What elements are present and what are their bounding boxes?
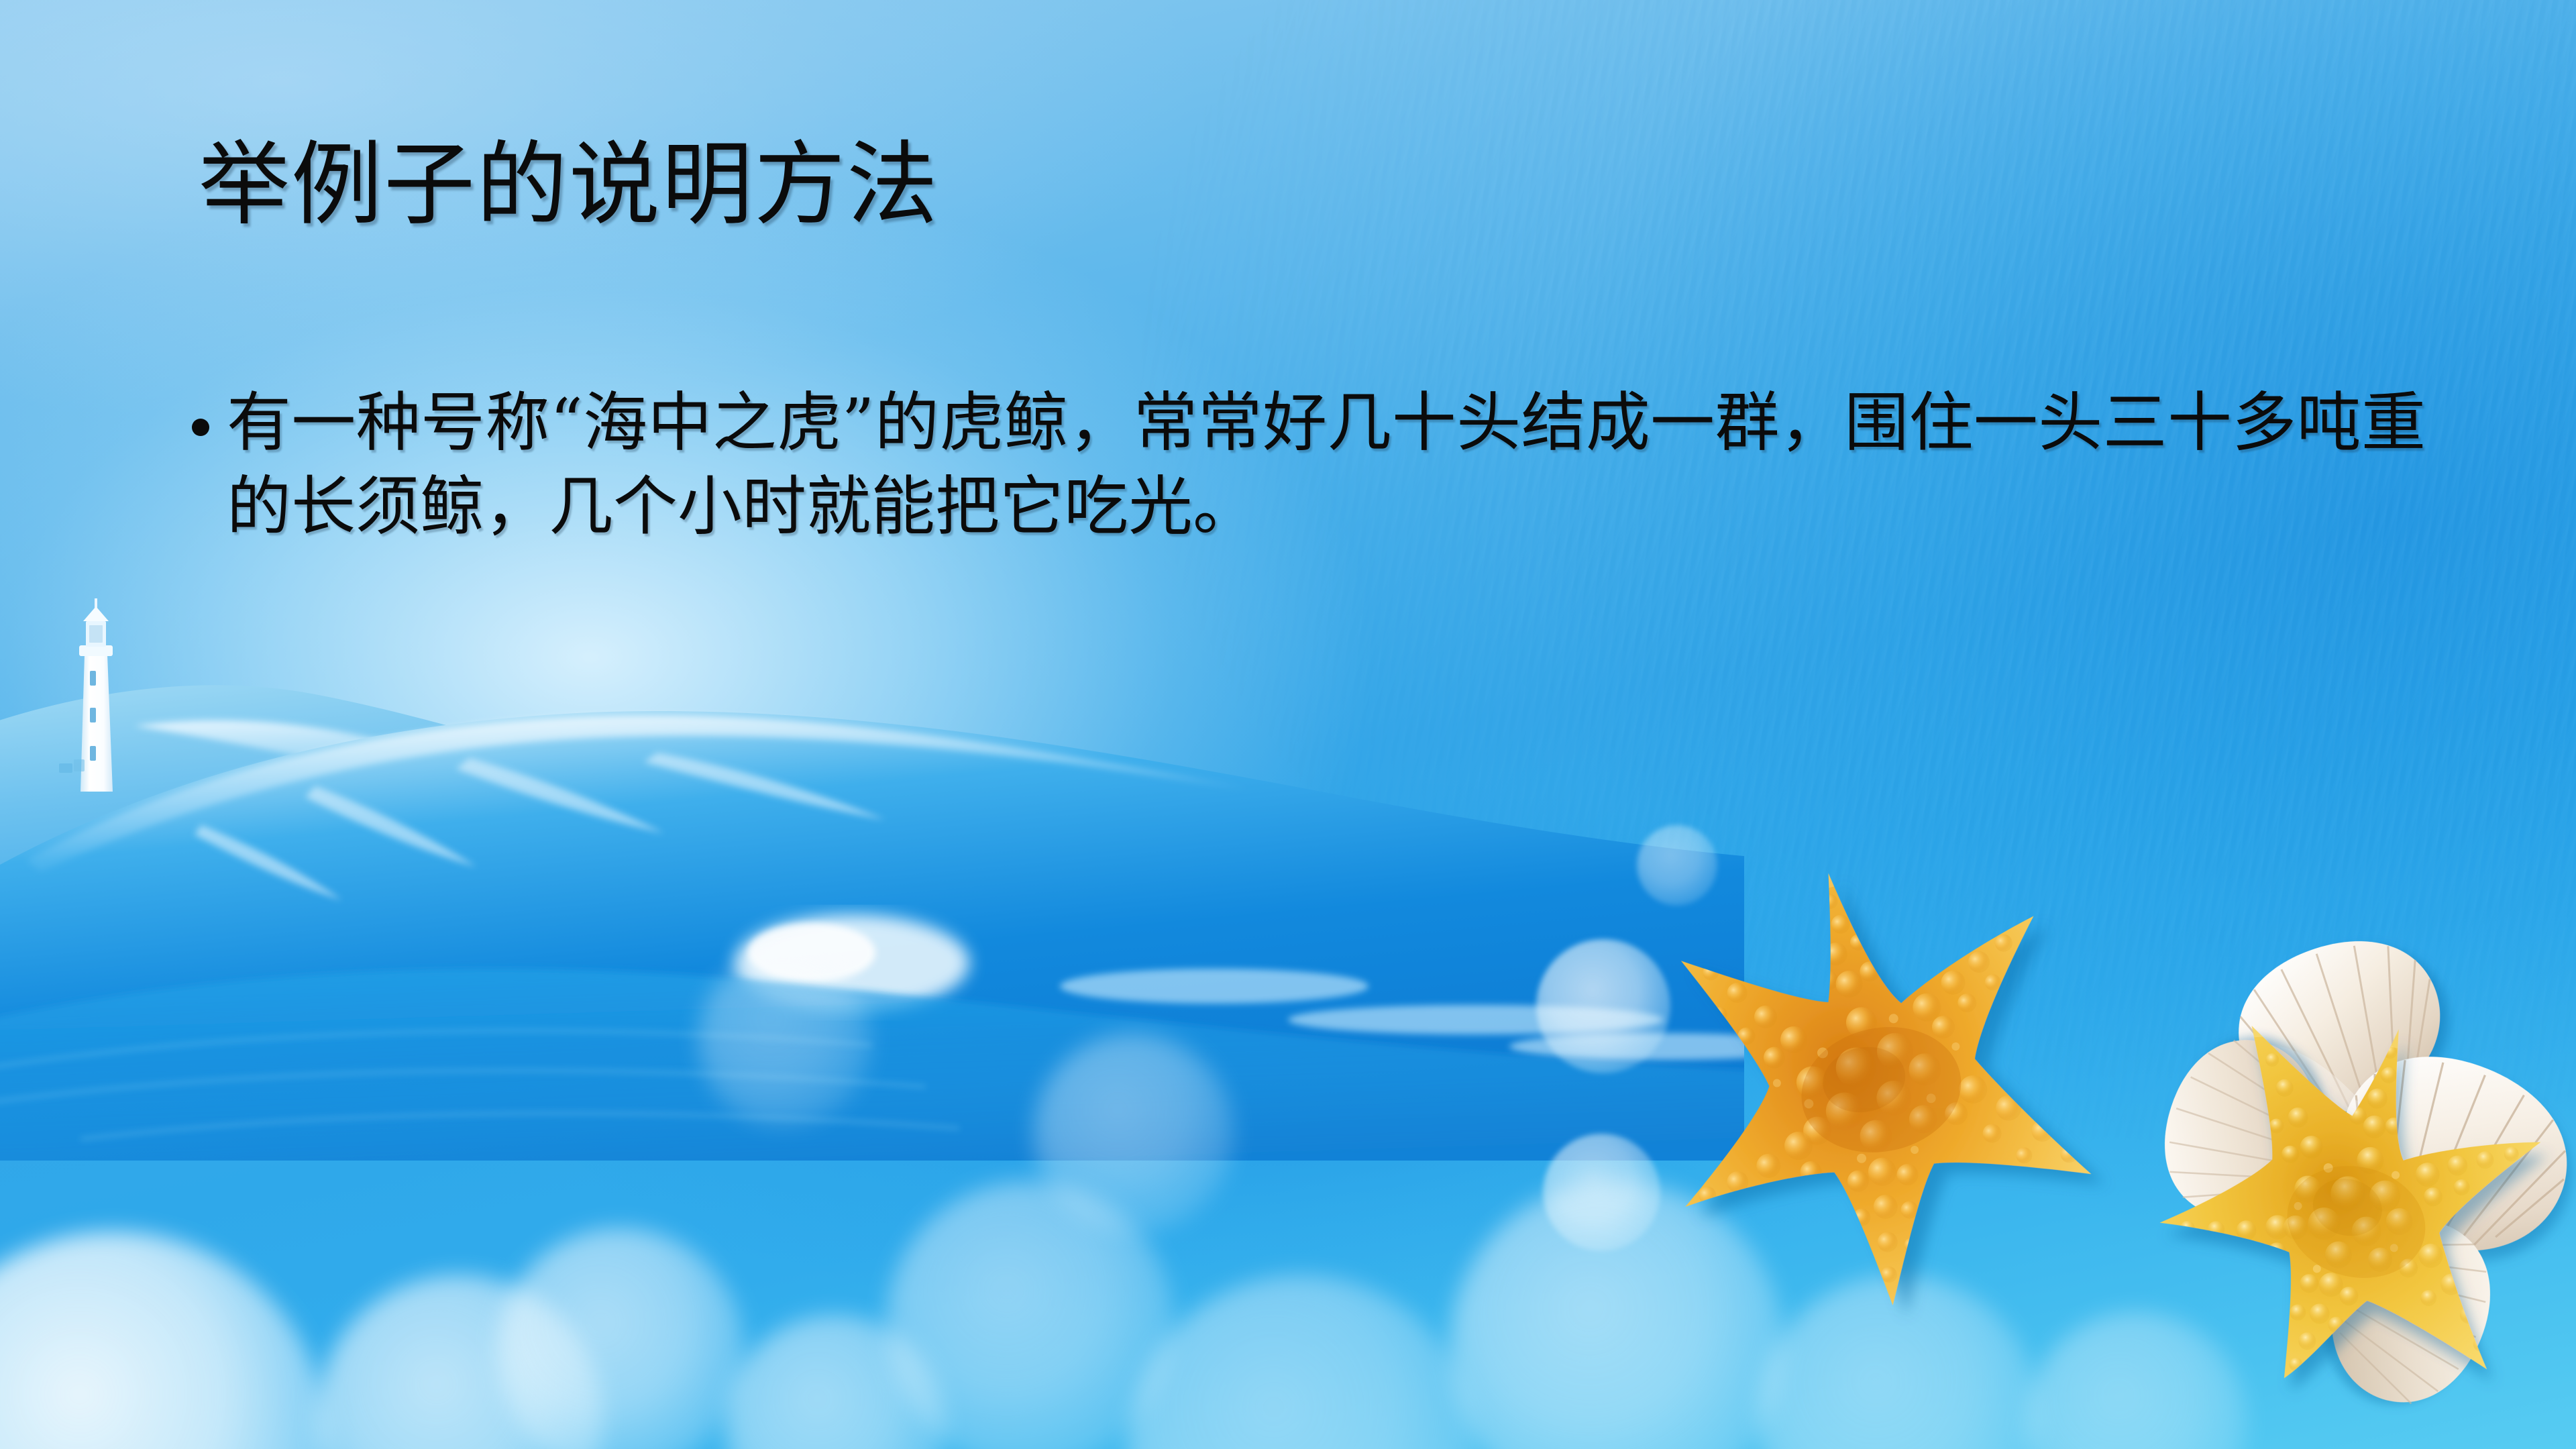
bokeh-bubble	[1536, 939, 1670, 1073]
bokeh-bubble	[2026, 1311, 2247, 1449]
rocky-headland	[0, 685, 1744, 1161]
bokeh-bubble	[0, 1231, 329, 1449]
bullet-dot-icon	[192, 419, 209, 436]
slide-title: 举例子的说明方法	[199, 131, 939, 239]
scallop-shell-icon	[2294, 1186, 2522, 1434]
lighthouse-icon	[58, 590, 138, 792]
bokeh-bubble	[1127, 1275, 1476, 1449]
bokeh-bubble	[1543, 1134, 1660, 1251]
scallop-shell-icon	[2208, 910, 2474, 1150]
bokeh-bubble	[315, 1275, 604, 1449]
bokeh-bubble	[1758, 1275, 2039, 1449]
slide-body: 有一种号称“海中之虎”的虎鲸，常常好几十头结成一群，围住一头三十多吨重的长须鲸，…	[192, 381, 2426, 549]
bokeh-bubble	[724, 1315, 946, 1449]
presentation-slide: 举例子的说明方法 有一种号称“海中之虎”的虎鲸，常常好几十头结成一群，围住一头三…	[0, 0, 2576, 1449]
scallop-shell-icon	[2299, 1018, 2576, 1297]
bullet-list-item: 有一种号称“海中之虎”的虎鲸，常常好几十头结成一群，围住一头三十多吨重的长须鲸，…	[192, 381, 2426, 549]
bokeh-bubble	[698, 953, 872, 1127]
bullet-text: 有一种号称“海中之虎”的虎鲸，常常好几十头结成一群，围住一头三十多吨重的长须鲸，…	[227, 381, 2426, 549]
scallop-shell-icon	[2137, 1013, 2351, 1248]
bokeh-bubble	[1637, 825, 1717, 906]
bokeh-bubble	[1033, 1033, 1234, 1234]
starfish-icon	[1593, 798, 2150, 1355]
seascape-illustration	[0, 557, 1744, 1161]
bokeh-bubble	[496, 1228, 745, 1449]
bokeh-bubble	[1449, 1181, 1784, 1449]
starfish-icon	[2125, 967, 2576, 1435]
bokeh-bubble	[885, 1181, 1174, 1449]
ocean-wave	[0, 711, 1744, 1161]
